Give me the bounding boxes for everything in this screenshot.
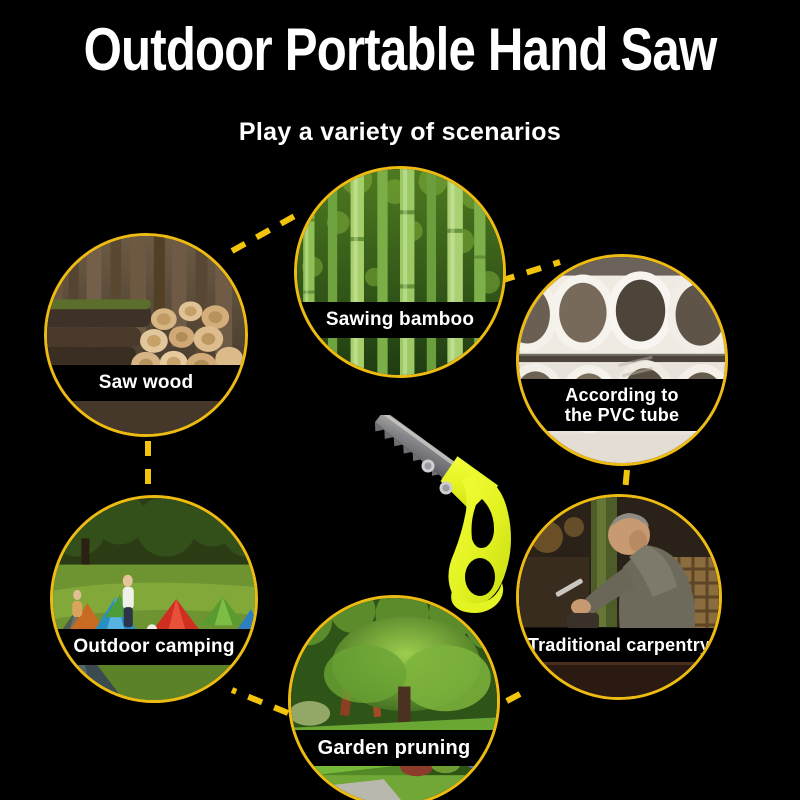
- scenario-sawing-bamboo[interactable]: Sawing bamboo: [294, 166, 506, 378]
- promo-poster: Outdoor Portable Hand Saw Play a variety…: [0, 0, 800, 800]
- scenario-label: Sawing bamboo: [297, 302, 503, 338]
- scenario-label: Saw wood: [47, 365, 245, 401]
- scenario-label: Garden pruning: [291, 730, 497, 766]
- hand-saw-icon: [370, 415, 550, 625]
- scenario-garden-pruning[interactable]: Garden pruning: [288, 595, 500, 800]
- scenario-saw-wood[interactable]: Saw wood: [44, 233, 248, 437]
- scenario-label: Traditional carpentry: [519, 628, 719, 662]
- bamboo-forest-photo: [297, 169, 503, 375]
- garden-hedges-photo: [291, 598, 497, 800]
- scenario-label: Outdoor camping: [53, 629, 255, 665]
- camping-tents-photo: [53, 498, 255, 700]
- scenario-label-line2: the PVC tube: [565, 405, 679, 425]
- scenario-outdoor-camping[interactable]: Outdoor camping: [50, 495, 258, 703]
- stacked-logs-photo: [47, 236, 245, 434]
- scenario-label-line1: According to: [565, 385, 678, 405]
